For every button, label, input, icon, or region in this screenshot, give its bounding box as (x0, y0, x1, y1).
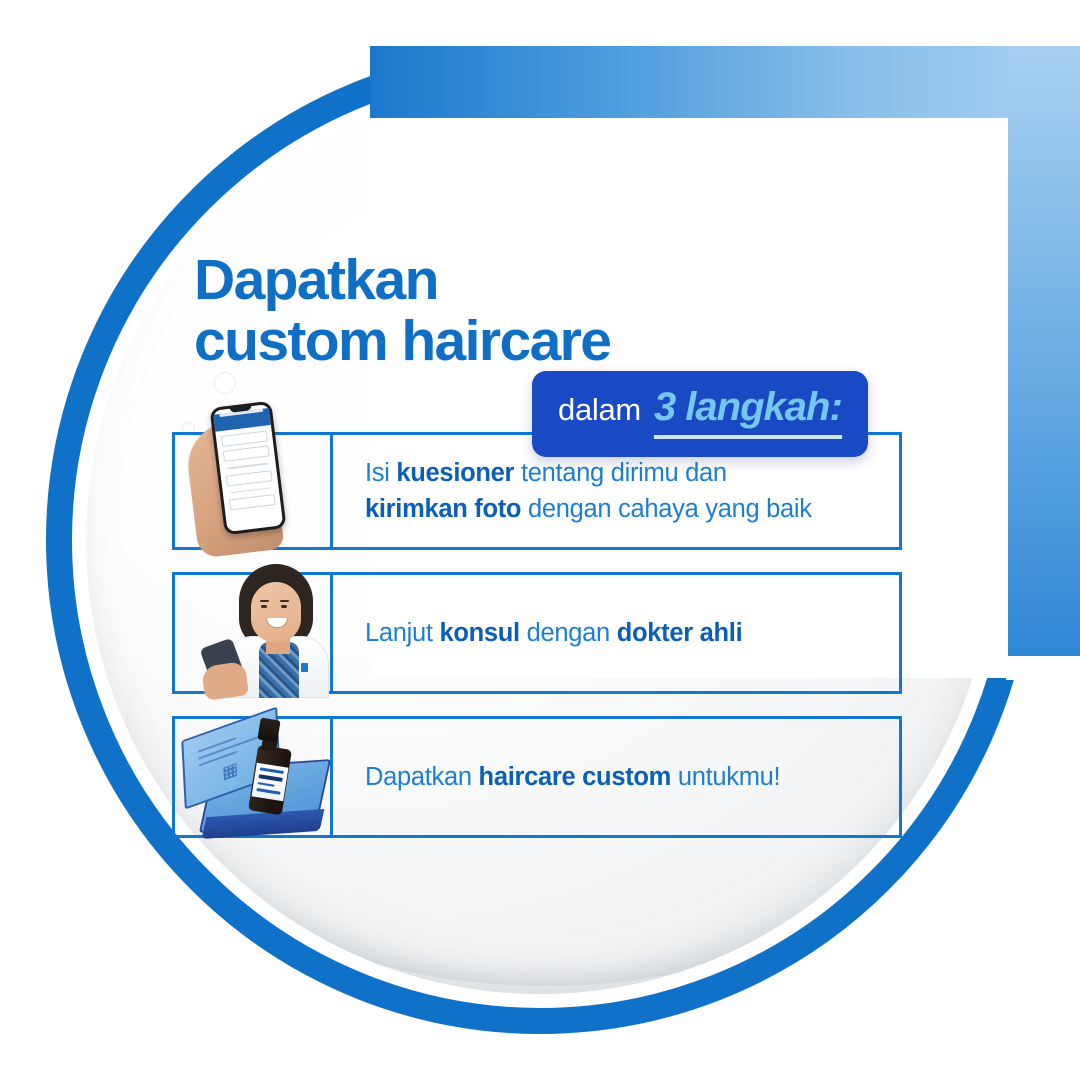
questionnaire-form (215, 425, 280, 511)
step-description: Lanjut konsul dengan dokter ahli (365, 615, 742, 651)
step-keyword: kirimkan foto (365, 495, 521, 523)
step-keyword: konsul (439, 619, 519, 647)
step-text: dengan (520, 619, 617, 647)
serum-bottle-label (252, 763, 289, 802)
serum-dropper-cap (257, 718, 280, 743)
step-image-cell (175, 719, 333, 835)
doctor-eyebrow (260, 600, 269, 602)
step-description-line: Isi kuesioner tentang dirimu dan (365, 455, 812, 491)
form-field (229, 494, 276, 511)
phone-screen (213, 404, 283, 532)
doctor-name-badge (301, 663, 308, 672)
step-text: Dapatkan (365, 763, 479, 791)
step-text: untukmu! (671, 763, 780, 791)
blue-box-with-serum-bottle-icon (177, 697, 335, 837)
step-image-cell (175, 575, 333, 691)
page-title: Dapatkan custom haircare (194, 250, 914, 372)
form-field (221, 430, 268, 447)
form-divider (230, 487, 272, 494)
step-description-line: kirimkan foto dengan cahaya yang baik (365, 491, 812, 527)
step-text: dengan cahaya yang baik (521, 495, 812, 523)
step-description: Dapatkan haircare custom untukmu! (365, 759, 780, 795)
label-line (260, 767, 284, 773)
label-line (257, 788, 281, 794)
step-keyword: kuesioner (396, 459, 514, 487)
female-doctor-with-phone-icon (181, 544, 333, 694)
step-description-line: Dapatkan haircare custom untukmu! (365, 759, 780, 795)
step-text: tentang dirimu dan (514, 459, 727, 487)
poster-content: Dapatkan custom haircare dalam 3 langkah… (0, 0, 1080, 1080)
list-item[interactable]: Dapatkan haircare custom untukmu! (172, 716, 902, 838)
doctor-face (251, 582, 301, 642)
form-divider (227, 462, 269, 469)
qr-code-icon (223, 763, 237, 780)
step-keyword: dokter ahli (617, 619, 743, 647)
steps-badge: dalam 3 langkah: (532, 371, 868, 457)
doctor-eyebrow (280, 600, 289, 602)
label-line (259, 774, 283, 782)
label-line (258, 782, 275, 787)
step-image-cell (175, 435, 333, 547)
doctor-eye (261, 605, 267, 608)
step-keyword: haircare custom (479, 763, 672, 791)
hand-holding-phone-questionnaire-icon (183, 400, 333, 550)
steps-list: Isi kuesioner tentang dirimu dankirimkan… (172, 432, 902, 860)
step-text: Lanjut (365, 619, 439, 647)
step-description-line: Lanjut konsul dengan dokter ahli (365, 615, 742, 651)
step-text-cell: Lanjut konsul dengan dokter ahli (333, 575, 899, 691)
doctor-eye (281, 605, 287, 608)
list-item[interactable]: Lanjut konsul dengan dokter ahli (172, 572, 902, 694)
step-text: Isi (365, 459, 396, 487)
badge-prefix-label: dalam (558, 392, 641, 428)
step-description: Isi kuesioner tentang dirimu dankirimkan… (365, 455, 812, 527)
badge-accent-label: 3 langkah: (654, 385, 842, 439)
poster-canvas: Dapatkan custom haircare dalam 3 langkah… (0, 0, 1080, 1080)
form-field (223, 445, 270, 462)
step-text-cell: Dapatkan haircare custom untukmu! (333, 719, 899, 835)
form-field (226, 470, 273, 487)
